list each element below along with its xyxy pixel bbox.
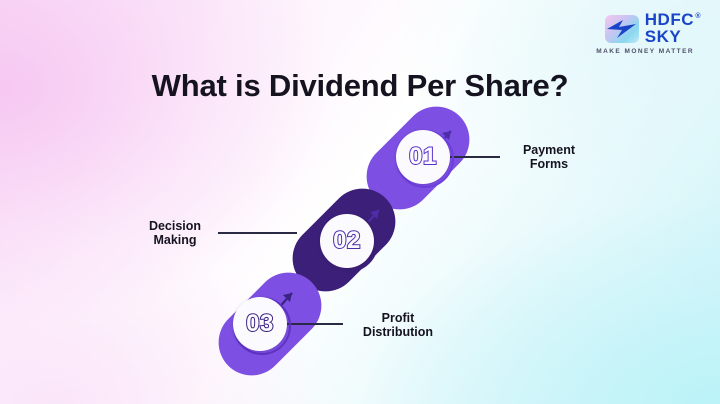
step-label-03: Profit Distribution xyxy=(346,311,450,339)
step-label-01: Payment Forms xyxy=(503,143,595,171)
step-number-03: 03 xyxy=(246,310,274,338)
infographic-canvas: HDFC® SKY MAKE MONEY MATTER What is Divi… xyxy=(0,0,720,404)
connector-layer xyxy=(0,0,720,404)
step-badge-02: 02 xyxy=(320,214,374,268)
step-label-02: Decision Making xyxy=(136,219,214,247)
step-badge-01: 01 xyxy=(396,130,450,184)
step-number-02: 02 xyxy=(333,227,361,255)
step-number-01: 01 xyxy=(409,143,437,171)
steps-diagram: 01 02 03 Payment Forms Decision Making P… xyxy=(0,0,720,404)
step-badge-03: 03 xyxy=(233,297,287,351)
